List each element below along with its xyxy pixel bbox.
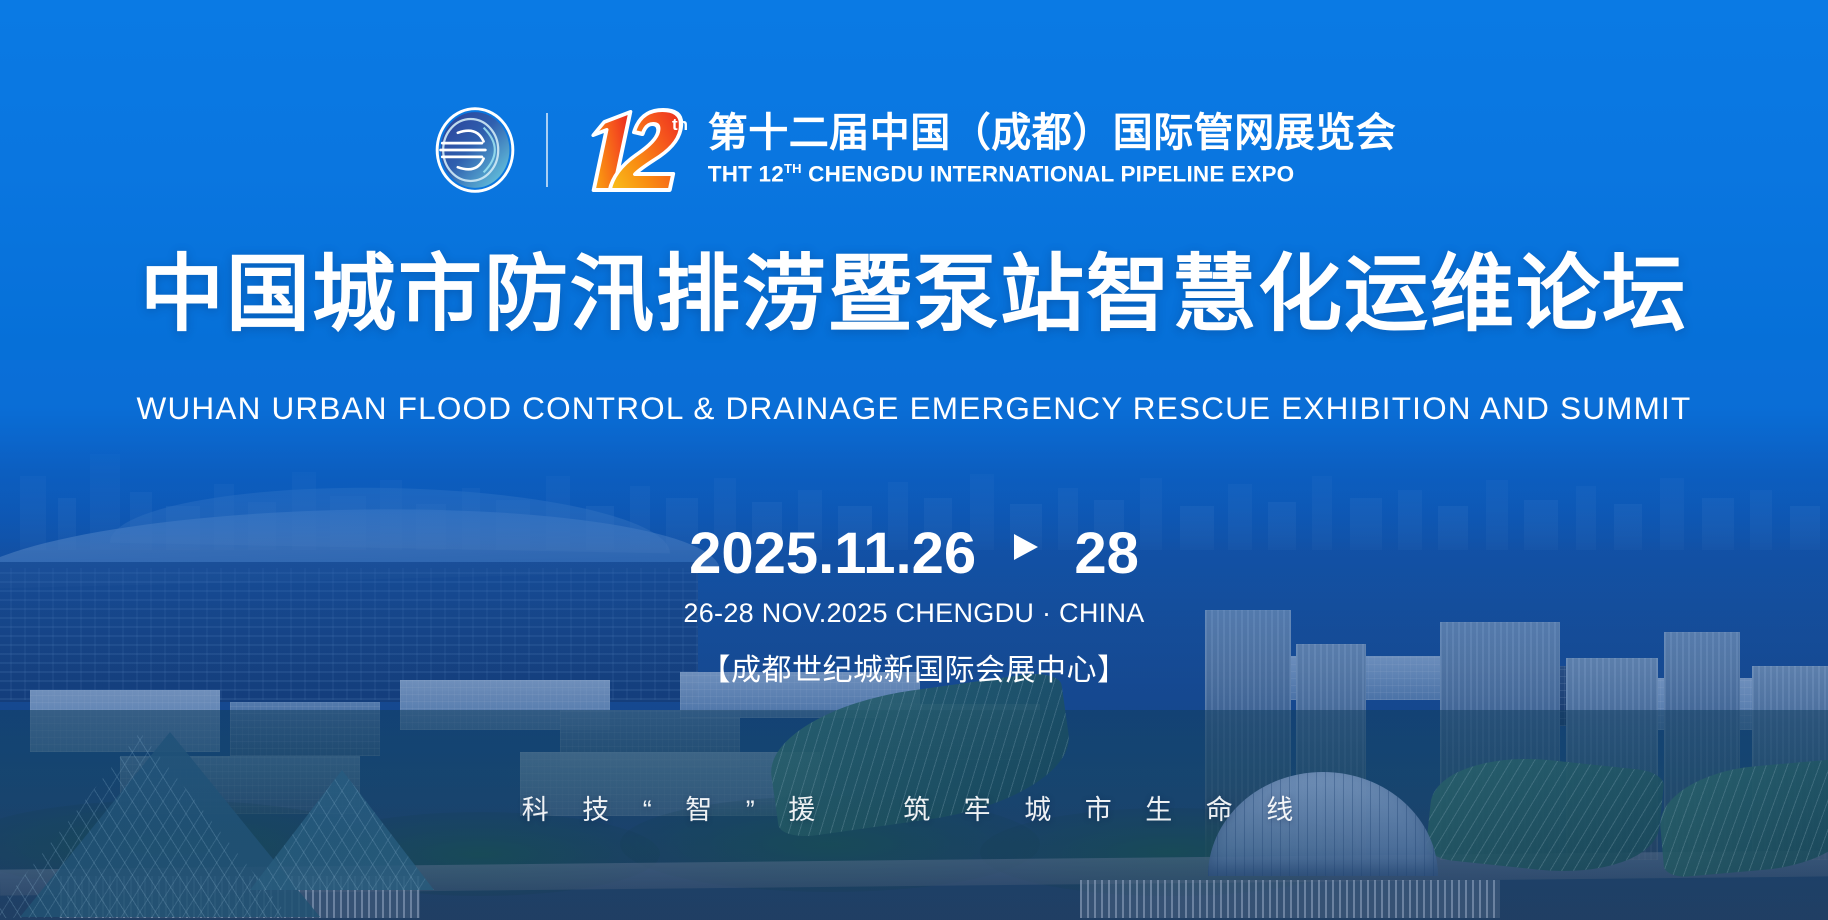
event-header-lockup: th 第十二届中国（成都）国际管网展览会 THT 12TH CHENGDU IN… — [0, 104, 1828, 196]
date-end: 28 — [1074, 521, 1139, 586]
vertical-divider-icon — [546, 113, 548, 187]
triangle-right-icon — [1008, 516, 1042, 574]
event-venue-cn: 【成都世纪城新国际会展中心】 — [0, 645, 1828, 689]
event-name-en-ordinal: TH — [784, 161, 802, 176]
main-title-en: WUHAN URBAN FLOOD CONTROL & DRAINAGE EME… — [0, 390, 1828, 427]
city-skyline-backdrop — [0, 360, 1828, 920]
event-banner: th 第十二届中国（成都）国际管网展览会 THT 12TH CHENGDU IN… — [0, 0, 1828, 920]
edition-number-graphic: th — [574, 104, 692, 196]
event-date-line: 2025.11.26 28 — [0, 516, 1828, 583]
main-title-cn: 中国城市防汛排涝暨泵站智慧化运维论坛 — [0, 252, 1828, 336]
tagline-part-2: 筑 牢 城 市 生 命 线 — [903, 795, 1306, 825]
event-name-block: 第十二届中国（成都）国际管网展览会 THT 12TH CHENGDU INTER… — [708, 112, 1397, 188]
footer-tagline: 科 技 “ 智 ” 援 筑 牢 城 市 生 命 线 — [0, 788, 1828, 827]
event-date-en: 26-28 NOV.2025 CHENGDU · CHINA — [0, 598, 1828, 629]
tagline-part-1: 科 技 “ 智 ” 援 — [522, 795, 829, 825]
event-name-cn: 第十二届中国（成都）国际管网展览会 — [708, 112, 1397, 154]
edition-ordinal-text: th — [672, 115, 688, 134]
event-name-en-suffix: CHENGDU INTERNATIONAL PIPELINE EXPO — [802, 162, 1295, 187]
date-start: 2025.11.26 — [689, 521, 976, 586]
pipeline-circle-emblem-icon — [432, 107, 518, 193]
event-name-en-prefix: THT 12 — [708, 162, 784, 187]
event-name-en: THT 12TH CHENGDU INTERNATIONAL PIPELINE … — [708, 161, 1397, 188]
